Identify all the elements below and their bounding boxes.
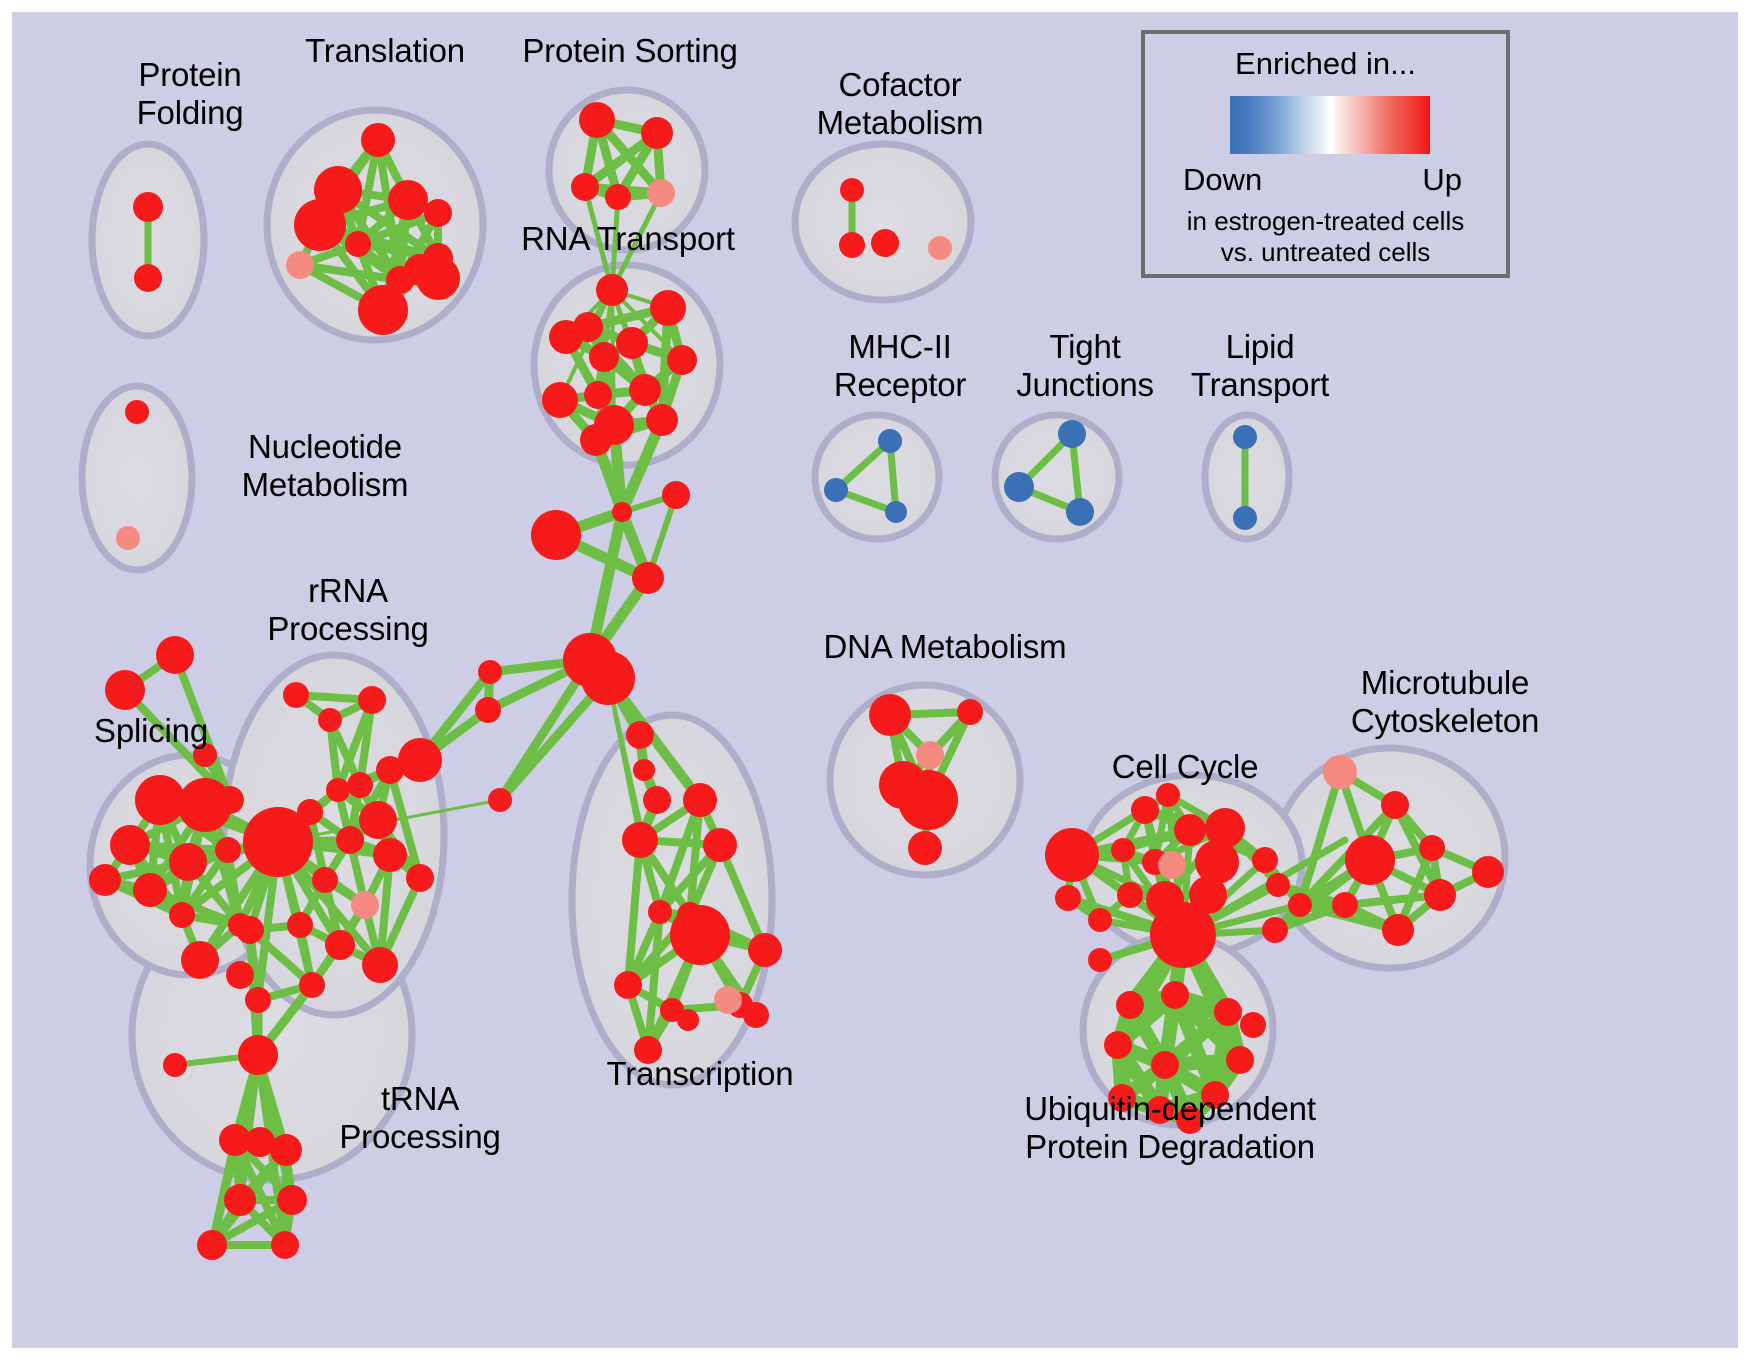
node [824,478,848,502]
node [362,947,398,983]
node [245,1127,275,1157]
node [326,778,350,802]
node [1323,755,1357,789]
node [1156,783,1180,807]
node [245,987,271,1013]
node [616,327,648,359]
cluster-label-rna-transport: RNA Transport [483,220,773,258]
node [238,1035,278,1075]
node [667,345,697,375]
node [1214,998,1242,1026]
node [898,770,958,830]
cluster-label-transcription: Transcription [560,1055,840,1093]
node [1472,856,1504,888]
node [1345,835,1395,885]
node [596,274,628,306]
node [388,180,428,220]
node [1158,851,1186,879]
node [226,961,254,989]
node [1131,796,1159,824]
node [488,788,512,812]
node [283,682,309,708]
node [312,867,338,893]
legend-title: Enriched in... [1145,46,1506,82]
node [928,236,952,260]
node [957,699,983,725]
figure-canvas: Protein Folding Translation Protein Sort… [0,0,1750,1360]
node [662,481,690,509]
node [646,404,678,436]
node [1111,838,1135,862]
node [359,801,397,839]
node [156,636,194,674]
node [1066,498,1094,526]
node [871,229,899,257]
node [351,891,379,919]
node [714,986,742,1014]
node [580,424,612,456]
node [134,264,162,292]
node [1104,1031,1132,1059]
node [358,285,408,335]
node [336,826,364,854]
node [373,838,407,872]
node [839,232,865,258]
node [605,184,631,210]
node [1004,472,1034,502]
node [1117,882,1143,908]
node [916,741,944,769]
cluster-label-ubiquitin-protein-degradation: Ubiquitin-dependent Protein Degradation [930,1090,1410,1166]
node [632,562,664,594]
node [475,697,501,723]
node [869,694,911,736]
node [325,930,355,960]
node [169,843,207,881]
node [650,290,686,326]
node [178,778,232,832]
node [424,199,452,227]
node [345,231,371,257]
node [748,933,782,967]
node [531,510,581,560]
node [243,807,313,877]
node [584,381,612,409]
node [215,837,241,863]
node [478,660,502,684]
cluster-label-protein-sorting: Protein Sorting [485,32,775,70]
legend-up-label: Up [1422,162,1462,198]
node [648,900,672,924]
node [840,178,864,202]
cluster-label-lipid-transport: Lipid Transport [1150,328,1370,404]
node [1382,914,1414,946]
node [579,102,615,138]
node [670,905,730,965]
node [224,1184,256,1216]
node [1045,828,1099,882]
cluster-label-splicing: Splicing [56,712,246,750]
node [287,912,313,938]
node [347,772,373,798]
legend-box: Enriched in... Down Up in estrogen-treat… [1141,30,1510,278]
node [1174,814,1206,846]
node [125,400,149,424]
node [236,916,264,944]
legend-down-label: Down [1183,162,1262,198]
node [294,199,346,251]
node [626,721,654,749]
node [703,828,737,862]
node [1419,835,1445,861]
cluster-label-rrna-processing: rRNA Processing [228,572,468,648]
node [908,831,942,865]
cluster-label-trna-processing: tRNA Processing [300,1080,540,1156]
node [1088,908,1112,932]
node [406,864,434,892]
node [1150,902,1216,968]
node [1332,892,1358,918]
node [181,941,219,979]
node [683,783,717,817]
node [1151,1051,1179,1079]
cluster-label-cofactor-metabolism: Cofactor Metabolism [770,66,1030,142]
node [629,374,661,406]
node [878,429,902,453]
node [612,502,632,522]
node [135,775,185,825]
node [1088,948,1112,972]
node [542,382,578,418]
node [641,117,673,149]
node [647,179,675,207]
node [1233,506,1257,530]
node [133,192,163,222]
node [299,972,325,998]
cluster-cofactor-metabolism [795,144,971,300]
node [1262,917,1288,943]
cluster-label-dna-metabolism: DNA Metabolism [795,628,1095,666]
node [105,670,145,710]
node [643,786,671,814]
node [1233,425,1257,449]
node [1252,847,1278,873]
node [318,708,342,732]
cluster-mhc-ii-receptor [815,415,939,539]
node [1116,991,1144,1019]
node [581,651,635,705]
node [1058,420,1086,448]
node [1288,893,1312,917]
node [622,822,658,858]
node [743,1002,769,1028]
cluster-label-cell-cycle: Cell Cycle [1060,748,1310,786]
cluster-label-translation: Translation [255,32,515,70]
node [270,1134,302,1166]
node [1424,879,1456,911]
node [1161,981,1189,1009]
cluster-label-nucleotide-metabolism: Nucleotide Metabolism [185,428,465,504]
node [571,173,599,201]
node [416,256,460,300]
node [633,759,655,781]
node [89,864,121,896]
node [169,902,195,928]
node [885,501,907,523]
node [286,251,314,279]
node [614,971,642,999]
node [110,825,150,865]
node [398,738,442,782]
node [271,1231,299,1259]
node [677,1009,699,1031]
node [1266,873,1290,897]
node [1055,885,1081,911]
node [197,1230,227,1260]
node [133,873,167,907]
color-scale-bar [1230,96,1430,154]
node [1240,1012,1266,1038]
node [163,1053,187,1077]
cluster-label-microtubule-cytoskeleton: Microtubule Cytoskeleton [1290,664,1600,740]
node [573,312,603,342]
legend-caption: in estrogen-treated cells vs. untreated … [1145,206,1506,268]
node [116,526,140,550]
node [589,342,619,372]
node [1381,791,1409,819]
node [361,123,395,157]
node [277,1185,307,1215]
node [1226,1046,1254,1074]
node [358,686,386,714]
